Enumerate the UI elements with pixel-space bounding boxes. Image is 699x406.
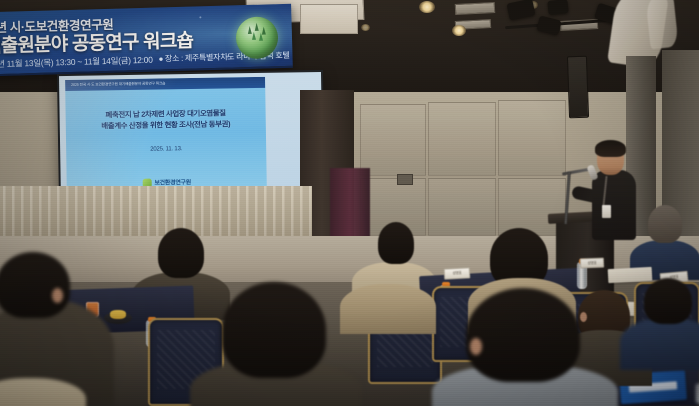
handout-paper-right-1 bbox=[608, 267, 653, 283]
name-card-placard-2: 성명표 bbox=[580, 258, 604, 269]
snack-food bbox=[110, 310, 126, 319]
pa-speaker-wall-mounted bbox=[567, 56, 589, 119]
attendee-far-right-shoulders bbox=[620, 318, 699, 370]
ceiling-downlight-3 bbox=[361, 24, 370, 31]
wall-panel-3 bbox=[498, 100, 566, 176]
attendee-front-left-ear bbox=[52, 288, 63, 303]
slide-title-line-2: 배출계수 산정을 위한 현황 조사(전남 동부권) bbox=[66, 118, 266, 132]
name-card-placard-1: 성명표 bbox=[444, 267, 471, 279]
conference-photo-scene: 년 시·도보건환경연구원 배출원분야 공동연구 워크숍 5년 11월 13일(목… bbox=[0, 0, 699, 406]
projection-surface: 2025 전국 시·도 보건환경연구원 대기배출원분야 공동연구 워크숍 폐축전… bbox=[59, 72, 323, 204]
presenter-name-badge bbox=[602, 205, 611, 218]
wall-outlet-plate bbox=[397, 174, 413, 185]
ceiling-vent-1 bbox=[455, 2, 496, 15]
attendee-mid-left-shoulders bbox=[340, 284, 436, 334]
ceiling-downlight-1 bbox=[419, 1, 435, 13]
attendee-front-right-head bbox=[466, 288, 580, 382]
attendee-front-right-ear bbox=[470, 338, 482, 355]
name-card-text: 성명표 bbox=[452, 271, 461, 276]
wall-panel-1 bbox=[360, 104, 426, 176]
slide-date: 2025. 11. 13. bbox=[66, 145, 266, 154]
stage-curtain-beige bbox=[0, 186, 312, 242]
wall-panel-2 bbox=[428, 102, 496, 176]
attendee-front-center-head bbox=[222, 282, 326, 378]
presenter-torso bbox=[592, 170, 636, 240]
attendee-back-left-head bbox=[378, 222, 414, 264]
track-spotlight-3 bbox=[547, 0, 568, 15]
name-card-text: 성명표 bbox=[587, 260, 596, 265]
presentation-slide: 2025 전국 시·도 보건환경연구원 대기배출원분야 공동연구 워크숍 폐축전… bbox=[65, 77, 267, 202]
slide-header-text: 2025 전국 시·도 보건환경연구원 대기배출원분야 공동연구 워크숍 bbox=[65, 81, 165, 88]
presenter-hair bbox=[595, 140, 626, 157]
ceiling-downlight-2 bbox=[452, 25, 466, 36]
attendee-front-left-head bbox=[0, 252, 70, 318]
slide-title: 폐축전지 납 2차제련 사업장 대기오염물질 배출계수 산정을 위한 현황 조사… bbox=[66, 107, 266, 132]
attendee-far-right-head bbox=[644, 278, 692, 324]
wall-panel-5 bbox=[428, 178, 496, 236]
attendee-back-right-head bbox=[648, 205, 682, 243]
slide-header-strip: 2025 전국 시·도 보건환경연구원 대기배출원분야 공동연구 워크숍 bbox=[65, 77, 265, 91]
ceiling-drape-fabric-2 bbox=[645, 0, 678, 49]
workshop-banner: 년 시·도보건환경연구원 배출원분야 공동연구 워크숍 5년 11월 13일(목… bbox=[0, 4, 293, 76]
attendee-back-center-head bbox=[158, 228, 204, 278]
attendee-mid-right-ear bbox=[580, 312, 587, 322]
ceiling-panel-soffit-2 bbox=[300, 4, 358, 34]
